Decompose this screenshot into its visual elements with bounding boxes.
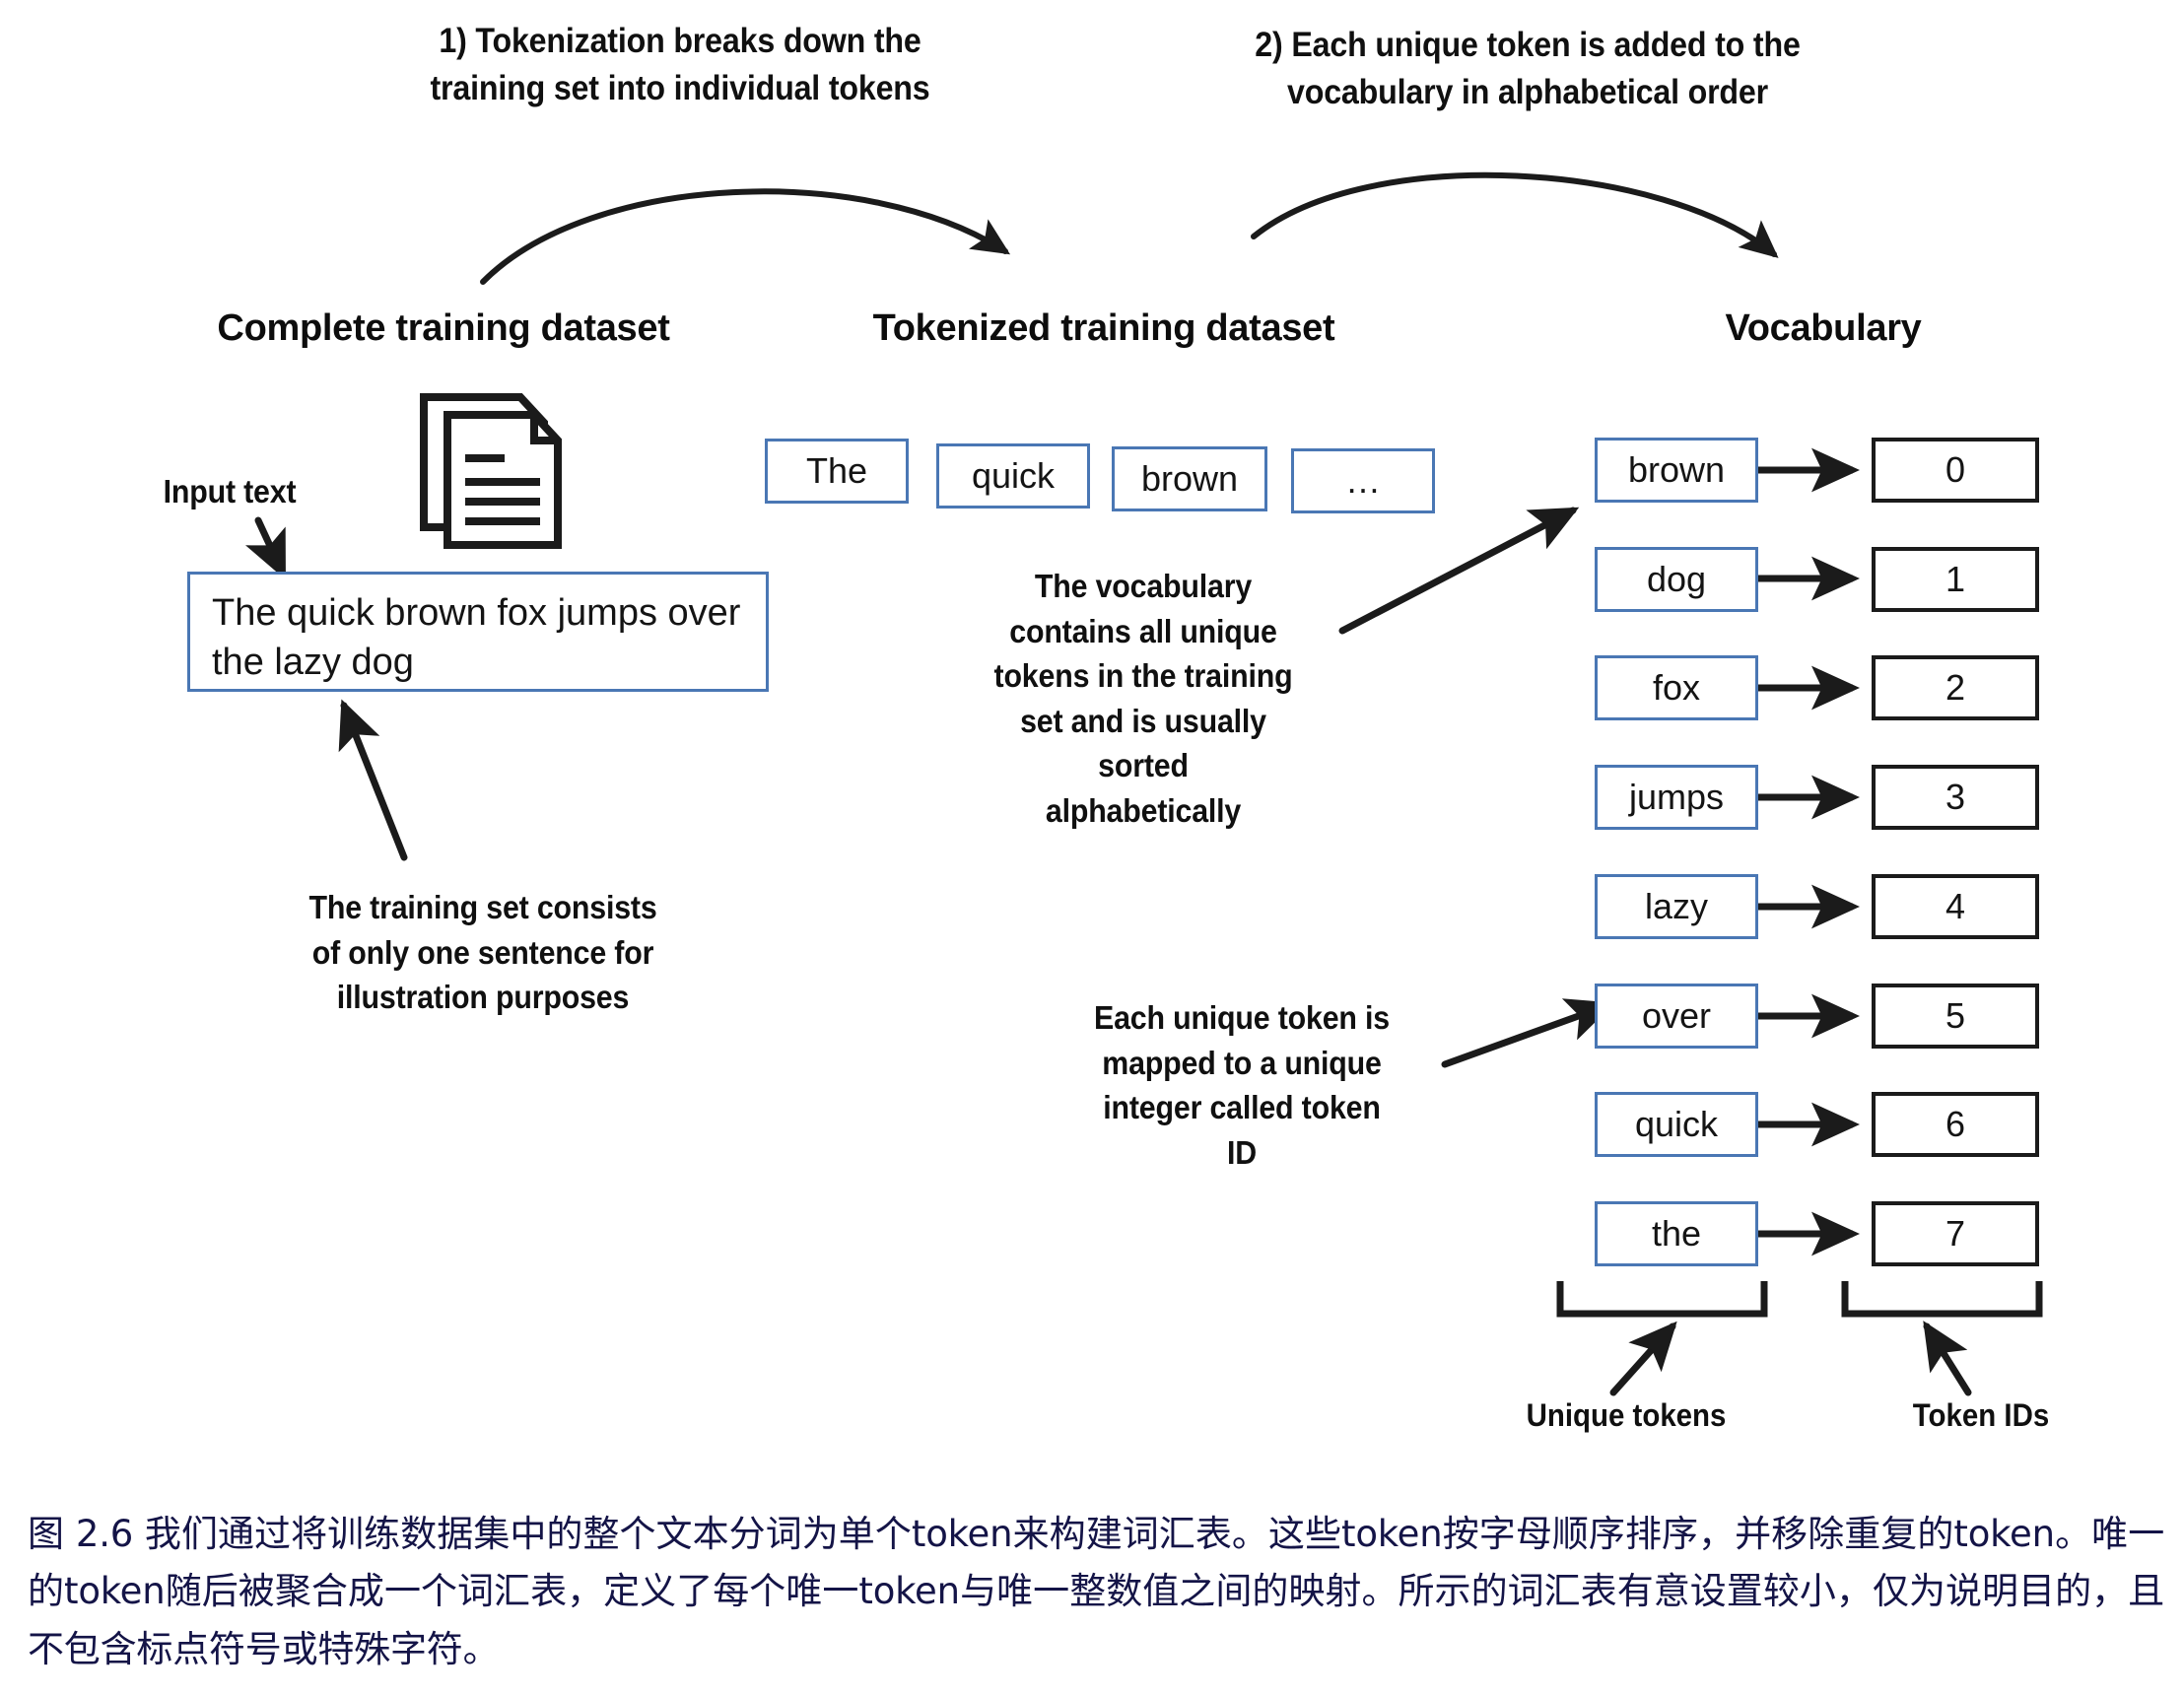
vocabulary-note: The vocabulary contains all unique token… bbox=[962, 564, 1325, 833]
unique-tokens-footer-label: Unique tokens bbox=[1490, 1397, 1762, 1434]
vocab-id-box[interactable]: 7 bbox=[1872, 1201, 2039, 1266]
curved-arrow-step-1 bbox=[483, 191, 1005, 282]
token-id-note: Each unique token is mapped to a unique … bbox=[1060, 995, 1423, 1175]
vocab-id-label: 2 bbox=[1945, 667, 1965, 709]
training-set-note: The training set consists of only one se… bbox=[265, 885, 701, 1020]
vocab-token-box[interactable]: dog bbox=[1595, 547, 1758, 612]
vocab-id-label: 5 bbox=[1945, 995, 1965, 1037]
mapping-arrows bbox=[1758, 470, 1853, 1234]
token-label: quick bbox=[972, 455, 1055, 497]
token-box[interactable]: The bbox=[765, 439, 909, 504]
document-stack-icon bbox=[414, 389, 572, 552]
token-id-note-arrow bbox=[1445, 1005, 1608, 1064]
vocab-id-label: 0 bbox=[1945, 449, 1965, 491]
token-ids-footer-label: Token IDs bbox=[1873, 1397, 2090, 1434]
input-text-label: Input text bbox=[134, 469, 324, 514]
vocab-token-label: over bbox=[1642, 995, 1711, 1037]
vocab-token-label: fox bbox=[1653, 667, 1700, 709]
unique-tokens-arrow bbox=[1613, 1326, 1672, 1392]
vocab-token-label: lazy bbox=[1645, 886, 1708, 927]
right-column-title: Vocabulary bbox=[1597, 307, 2050, 350]
vocab-token-label: jumps bbox=[1629, 777, 1724, 818]
vocab-token-box[interactable]: quick bbox=[1595, 1092, 1758, 1157]
vocab-token-box[interactable]: brown bbox=[1595, 438, 1758, 503]
input-text-value: The quick brown fox jumps over the lazy … bbox=[212, 592, 740, 683]
token-label: … bbox=[1345, 460, 1381, 502]
token-box[interactable]: brown bbox=[1112, 446, 1267, 511]
token-label: brown bbox=[1141, 458, 1238, 500]
curved-arrow-step-2 bbox=[1254, 175, 1774, 254]
vocab-token-box[interactable]: over bbox=[1595, 984, 1758, 1049]
input-text-box[interactable]: The quick brown fox jumps over the lazy … bbox=[187, 572, 769, 692]
token-box-ellipsis[interactable]: … bbox=[1291, 448, 1435, 513]
vocab-id-box[interactable]: 1 bbox=[1872, 547, 2039, 612]
vocab-token-label: the bbox=[1652, 1213, 1701, 1255]
connector-layer bbox=[0, 0, 2184, 1697]
vocab-id-box[interactable]: 0 bbox=[1872, 438, 2039, 503]
figure-caption: 图 2.6 我们通过将训练数据集中的整个文本分词为单个token来构建词汇表。这… bbox=[28, 1506, 2164, 1678]
vocab-id-label: 1 bbox=[1945, 559, 1965, 600]
token-ids-arrow bbox=[1927, 1326, 1968, 1392]
vocab-id-label: 3 bbox=[1945, 777, 1965, 818]
vocab-id-box[interactable]: 6 bbox=[1872, 1092, 2039, 1157]
vocabulary-note-arrow bbox=[1342, 510, 1573, 631]
vocab-id-box[interactable]: 2 bbox=[1872, 655, 2039, 720]
vocab-id-label: 6 bbox=[1945, 1104, 1965, 1145]
vocab-id-box[interactable]: 3 bbox=[1872, 765, 2039, 830]
middle-column-title: Tokenized training dataset bbox=[798, 307, 1409, 350]
vocab-token-box[interactable]: jumps bbox=[1595, 765, 1758, 830]
vocab-token-box[interactable]: fox bbox=[1595, 655, 1758, 720]
vocab-token-box[interactable]: the bbox=[1595, 1201, 1758, 1266]
vocab-id-box[interactable]: 5 bbox=[1872, 984, 2039, 1049]
step-2-annotation: 2) Each unique token is added to the voc… bbox=[1210, 22, 1845, 117]
vocab-token-label: quick bbox=[1635, 1104, 1718, 1145]
figure-canvas: 1) Tokenization breaks down the training… bbox=[0, 0, 2184, 1697]
token-box[interactable]: quick bbox=[936, 443, 1090, 509]
token-label: The bbox=[806, 450, 867, 492]
left-column-title: Complete training dataset bbox=[138, 307, 749, 350]
vocab-token-label: brown bbox=[1628, 449, 1725, 491]
step-1-annotation: 1) Tokenization breaks down the training… bbox=[399, 18, 961, 113]
vocab-id-label: 4 bbox=[1945, 886, 1965, 927]
unique-tokens-bracket bbox=[1560, 1281, 1764, 1314]
training-note-arrow bbox=[344, 706, 404, 857]
token-ids-bracket bbox=[1845, 1281, 2039, 1314]
vocab-token-box[interactable]: lazy bbox=[1595, 874, 1758, 939]
vocab-token-label: dog bbox=[1647, 559, 1706, 600]
input-text-arrow bbox=[258, 520, 283, 574]
vocab-id-box[interactable]: 4 bbox=[1872, 874, 2039, 939]
vocab-id-label: 7 bbox=[1945, 1213, 1965, 1255]
